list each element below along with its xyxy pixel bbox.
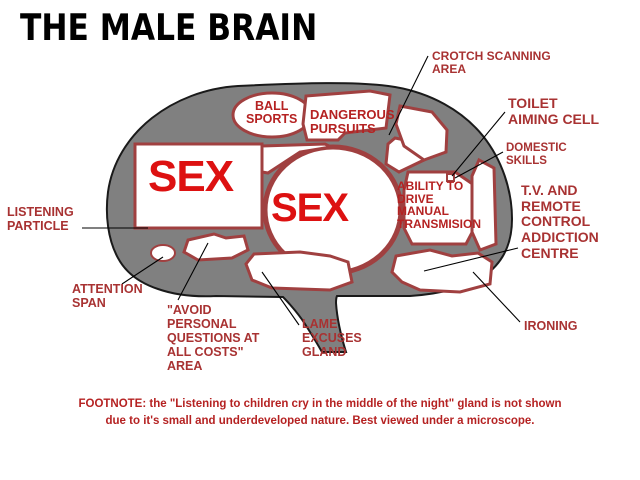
male-brain-diagram: THE MALE BRAIN (0, 0, 640, 480)
region-label-sex-center: SEX (271, 186, 348, 231)
footnote-line-2: due to it's small and underdeveloped nat… (0, 413, 640, 430)
region-far-right-strip (472, 160, 496, 250)
callout-label-ironing: IRONING (524, 319, 577, 333)
callout-label-tv-remote: T.V. AND REMOTE CONTROL ADDICTION CENTRE (521, 183, 599, 261)
callout-label-lame-excuses: LAME EXCUSES GLAND (302, 317, 362, 359)
callout-label-crotch-scanning: CROTCH SCANNING AREA (432, 50, 551, 77)
callout-label-domestic-skills: DOMESTIC SKILLS (506, 142, 567, 168)
footnote-line-1: FOOTNOTE: the "Listening to children cry… (0, 396, 640, 413)
region-lower-right-lobe (392, 250, 492, 292)
region-mid-right-lobe (404, 172, 476, 244)
callout-label-attention-span: ATTENTION SPAN (72, 282, 143, 310)
callout-label-avoid-personal-questions: "AVOID PERSONAL QUESTIONS AT ALL COSTS" … (167, 303, 259, 373)
leader-line-ironing (473, 272, 520, 322)
region-avoid-questions (184, 234, 248, 260)
region-attention-span (151, 245, 175, 261)
callout-label-toilet-aiming: TOILET AIMING CELL (508, 96, 599, 127)
region-label-sex-left: SEX (148, 152, 233, 202)
region-ball-sports (233, 93, 311, 137)
footnote: FOOTNOTE: the "Listening to children cry… (0, 396, 640, 429)
callout-label-listening-particle: LISTENING PARTICLE (7, 205, 74, 233)
region-lower-center-lobe (246, 252, 352, 290)
